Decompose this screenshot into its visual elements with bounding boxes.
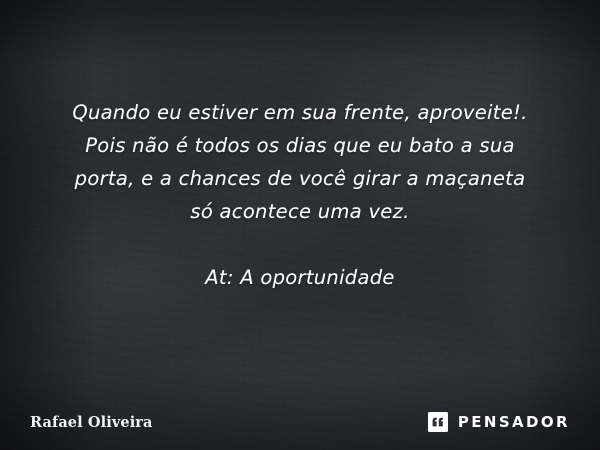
quote-mark-icon bbox=[428, 412, 448, 432]
card-footer: Rafael Oliveira PENSADOR bbox=[0, 394, 600, 450]
quote-text: Quando eu estiver em sua frente, aprovei… bbox=[30, 96, 570, 294]
pensador-logo[interactable]: PENSADOR bbox=[428, 412, 570, 432]
quote-card: Quando eu estiver em sua frente, aprovei… bbox=[0, 0, 600, 450]
author-name: Rafael Oliveira bbox=[30, 414, 153, 431]
brand-name: PENSADOR bbox=[458, 413, 570, 431]
